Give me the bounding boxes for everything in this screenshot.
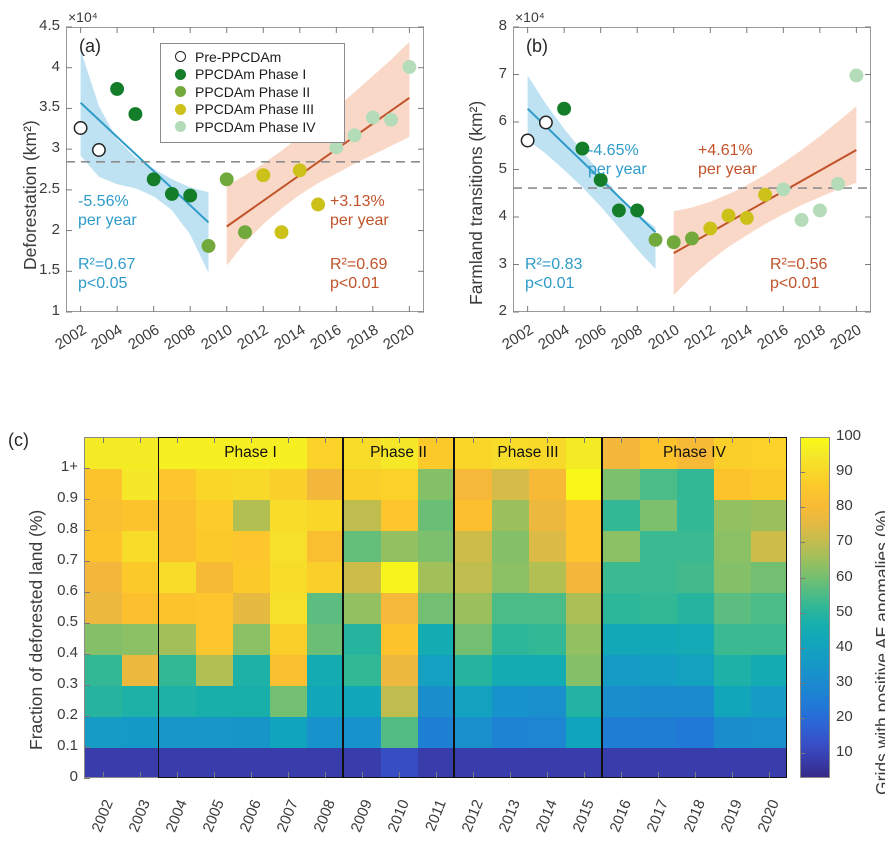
x-tick-mark (214, 437, 215, 443)
x-tick-mark (732, 437, 733, 443)
data-point (759, 189, 771, 201)
panel-b-blue-rate-unit: per year (588, 160, 647, 179)
panel-a-blue-p: p<0.05 (78, 274, 135, 293)
x-tick-label: 2017 (637, 797, 671, 850)
colorbar-tick-mark (800, 472, 805, 473)
data-point (221, 173, 233, 185)
y-tick-mark (84, 530, 90, 531)
legend-item: PPCDAm Phase I (166, 66, 337, 84)
y-tick-label: 1 (14, 302, 60, 319)
legend-label: PPCDAm Phase II (195, 84, 310, 100)
data-point (403, 61, 415, 73)
legend-item: Pre-PPCDAm (166, 48, 337, 66)
panel-b-red-rate-unit: per year (698, 160, 757, 179)
legend-item: PPCDAm Phase II (166, 83, 337, 101)
data-point (613, 204, 625, 216)
panel-a-red-rate-value: +3.13% (330, 192, 389, 211)
legend-item: PPCDAm Phase IV (166, 118, 337, 136)
x-tick-mark (547, 437, 548, 443)
data-point (832, 178, 844, 190)
data-point (704, 222, 716, 234)
x-tick-mark (695, 772, 696, 778)
colorbar-tick-label: 60 (836, 568, 853, 585)
x-tick-mark (177, 772, 178, 778)
y-tick-label: 8 (461, 17, 507, 34)
x-tick-mark (769, 772, 770, 778)
heatmap-axes: 00.10.20.30.40.50.60.70.80.91+2002200320… (0, 420, 885, 851)
y-tick-label: 4 (14, 58, 60, 75)
y-tick-label: 0.5 (32, 613, 78, 630)
y-tick-label: 5 (461, 160, 507, 177)
x-tick-mark (695, 437, 696, 443)
panel-b-red-stats: R²=0.56 p<0.01 (770, 255, 827, 293)
x-tick-label: 2019 (711, 797, 745, 850)
x-tick-mark (658, 437, 659, 443)
data-point (239, 226, 251, 238)
x-tick-label: 2016 (600, 797, 634, 850)
y-tick-label: 0.3 (32, 675, 78, 692)
colorbar-tick-mark (800, 542, 805, 543)
data-point (631, 204, 643, 216)
colorbar-tick-mark (800, 507, 805, 508)
colorbar-tick-label: 10 (836, 743, 853, 760)
panel-c: (c) Fraction of deforested land (%) Phas… (0, 420, 885, 851)
y-tick-label: 7 (461, 65, 507, 82)
x-tick-mark (621, 437, 622, 443)
colorbar-tick-label: 40 (836, 638, 853, 655)
x-tick-label: 2009 (341, 797, 375, 850)
panel-b-red-p: p<0.01 (770, 274, 827, 293)
x-tick-mark (288, 772, 289, 778)
y-tick-mark (84, 561, 90, 562)
x-tick-mark (547, 772, 548, 778)
x-tick-label: 2018 (674, 797, 708, 850)
data-point (385, 114, 397, 126)
legend-label: PPCDAm Phase III (195, 101, 314, 117)
data-point (367, 111, 379, 123)
y-tick-mark (84, 654, 90, 655)
panel-b-label: (b) (526, 36, 548, 57)
panel-b-ylabel: Farmland transitions (km²) (466, 101, 487, 305)
data-point (111, 83, 123, 95)
data-point (795, 214, 807, 226)
y-tick-label: 1.5 (14, 261, 60, 278)
colorbar (800, 437, 830, 778)
panel-b: ×10⁴ (b) Farmland transitions (km²) -4.6… (440, 0, 885, 418)
y-tick-label: 3 (461, 255, 507, 272)
x-tick-label: 2010 (378, 797, 412, 850)
x-tick-mark (362, 437, 363, 443)
colorbar-tick-label: 90 (836, 462, 853, 479)
data-point (74, 122, 86, 134)
x-tick-label: 2008 (304, 797, 338, 850)
panel-a-blue-r2: R²=0.67 (78, 255, 135, 274)
y-tick-label: 0.1 (32, 737, 78, 754)
panel-b-y-exponent: ×10⁴ (515, 9, 545, 25)
legend-label: PPCDAm Phase I (195, 66, 306, 82)
panel-b-blue-r2: R²=0.83 (525, 255, 582, 274)
x-tick-mark (177, 437, 178, 443)
panel-b-blue-p: p<0.01 (525, 274, 582, 293)
data-point (257, 169, 269, 181)
panel-a-red-rate: +3.13% per year (330, 192, 389, 230)
y-tick-label: 1+ (32, 458, 78, 475)
x-tick-label: 2007 (267, 797, 301, 850)
y-tick-label: 0.4 (32, 644, 78, 661)
colorbar-tick-mark (800, 648, 805, 649)
data-point (558, 103, 570, 115)
x-tick-label: 2012 (452, 797, 486, 850)
x-tick-mark (510, 772, 511, 778)
x-tick-label: 2005 (193, 797, 227, 850)
panel-a-red-rate-unit: per year (330, 211, 389, 230)
y-tick-mark (84, 716, 90, 717)
legend-label: Pre-PPCDAm (195, 49, 281, 65)
y-tick-label: 4.5 (14, 17, 60, 34)
x-tick-mark (584, 772, 585, 778)
x-tick-mark (658, 772, 659, 778)
panel-a-blue-stats: R²=0.67 p<0.05 (78, 255, 135, 293)
data-point (184, 189, 196, 201)
panel-a-blue-rate-value: -5.56% (78, 192, 137, 211)
panel-a: ×10⁴ (a) Deforestation (km²) Pre-PPCDAm … (0, 0, 445, 418)
legend-marker-phase-ii (175, 86, 186, 97)
data-point (540, 116, 552, 128)
data-point (850, 69, 862, 81)
x-tick-mark (584, 437, 585, 443)
x-tick-mark (214, 772, 215, 778)
data-point (741, 212, 753, 224)
x-tick-label: 2011 (415, 797, 449, 850)
x-tick-mark (325, 772, 326, 778)
x-tick-mark (251, 437, 252, 443)
colorbar-tick-label: 20 (836, 708, 853, 725)
x-tick-mark (732, 772, 733, 778)
y-tick-mark (84, 499, 90, 500)
x-tick-mark (399, 437, 400, 443)
data-point (348, 129, 360, 141)
panel-a-y-exponent: ×10⁴ (68, 9, 98, 25)
x-tick-label: 2002 (82, 797, 116, 850)
panel-b-red-rate: +4.61% per year (698, 141, 757, 179)
y-tick-label: 0 (32, 768, 78, 785)
panel-b-blue-stats: R²=0.83 p<0.01 (525, 255, 582, 293)
data-point (686, 232, 698, 244)
y-tick-mark (84, 685, 90, 686)
y-tick-label: 2.5 (14, 180, 60, 197)
data-point (814, 204, 826, 216)
y-tick-label: 6 (461, 112, 507, 129)
colorbar-tick-mark (800, 718, 805, 719)
y-tick-label: 3.5 (14, 98, 60, 115)
data-point (93, 144, 105, 156)
data-point (312, 198, 324, 210)
data-point (576, 142, 588, 154)
x-tick-mark (362, 772, 363, 778)
colorbar-tick-mark (800, 613, 805, 614)
data-point (148, 173, 160, 185)
y-tick-label: 2 (461, 302, 507, 319)
y-tick-label: 0.8 (32, 520, 78, 537)
y-tick-label: 2 (14, 221, 60, 238)
panel-b-red-r2: R²=0.56 (770, 255, 827, 274)
y-tick-label: 3 (14, 139, 60, 156)
panel-a-red-r2: R²=0.69 (330, 255, 387, 274)
colorbar-tick-mark (800, 753, 805, 754)
panel-a-label: (a) (79, 36, 101, 57)
x-tick-mark (140, 772, 141, 778)
x-tick-label: 2020 (748, 797, 782, 850)
y-tick-label: 0.2 (32, 706, 78, 723)
colorbar-tick-mark (800, 437, 805, 438)
data-point (166, 188, 178, 200)
x-tick-mark (621, 772, 622, 778)
panel-b-blue-rate-value: -4.65% (588, 141, 647, 160)
x-tick-mark (325, 437, 326, 443)
data-point (330, 141, 342, 153)
colorbar-tick-label: 50 (836, 603, 853, 620)
y-tick-label: 0.6 (32, 582, 78, 599)
panel-b-red-rate-value: +4.61% (698, 141, 757, 160)
colorbar-tick-mark (800, 683, 805, 684)
y-tick-label: 4 (461, 207, 507, 224)
x-tick-mark (140, 437, 141, 443)
legend-item: PPCDAm Phase III (166, 101, 337, 119)
data-point (521, 134, 533, 146)
data-point (202, 240, 214, 252)
colorbar-tick-label: 70 (836, 532, 853, 549)
legend-label: PPCDAm Phase IV (195, 119, 316, 135)
x-tick-mark (436, 437, 437, 443)
legend-marker-phase-i (175, 69, 186, 80)
y-tick-mark (84, 592, 90, 593)
data-point (722, 209, 734, 221)
legend-marker-phase-iv (175, 121, 186, 132)
x-tick-mark (103, 772, 104, 778)
x-tick-label: 2004 (156, 797, 190, 850)
x-tick-mark (473, 772, 474, 778)
x-tick-label: 2006 (230, 797, 264, 850)
panel-a-legend: Pre-PPCDAm PPCDAm Phase I PPCDAm Phase I… (160, 43, 345, 143)
x-tick-label: 2015 (563, 797, 597, 850)
data-point (668, 236, 680, 248)
data-point (777, 183, 789, 195)
y-tick-label: 0.7 (32, 551, 78, 568)
colorbar-tick-label: 30 (836, 673, 853, 690)
colorbar-label: Grids with positive AF anomalies (%) (872, 510, 885, 795)
x-tick-mark (510, 437, 511, 443)
colorbar-tick-label: 100 (836, 427, 861, 444)
x-tick-mark (399, 772, 400, 778)
panel-a-red-stats: R²=0.69 p<0.01 (330, 255, 387, 293)
data-point (294, 164, 306, 176)
colorbar-tick-label: 80 (836, 497, 853, 514)
colorbar-tick-mark (800, 578, 805, 579)
y-tick-mark (84, 747, 90, 748)
legend-marker-pre-ppcdam (175, 51, 186, 62)
panel-a-blue-rate: -5.56% per year (78, 192, 137, 230)
data-point (129, 108, 141, 120)
y-tick-mark (84, 778, 90, 779)
panel-a-red-p: p<0.01 (330, 274, 387, 293)
x-tick-mark (473, 437, 474, 443)
x-tick-mark (103, 437, 104, 443)
data-point (649, 234, 661, 246)
y-tick-mark (84, 623, 90, 624)
x-tick-mark (769, 437, 770, 443)
x-tick-mark (251, 772, 252, 778)
x-tick-mark (436, 772, 437, 778)
x-tick-label: 2013 (489, 797, 523, 850)
legend-marker-phase-iii (175, 104, 186, 115)
data-point (275, 226, 287, 238)
x-tick-label: 2003 (119, 797, 153, 850)
x-tick-label: 2014 (526, 797, 560, 850)
panel-b-blue-rate: -4.65% per year (588, 141, 647, 179)
y-tick-label: 0.9 (32, 489, 78, 506)
x-tick-mark (288, 437, 289, 443)
panel-a-blue-rate-unit: per year (78, 211, 137, 230)
y-tick-mark (84, 468, 90, 469)
